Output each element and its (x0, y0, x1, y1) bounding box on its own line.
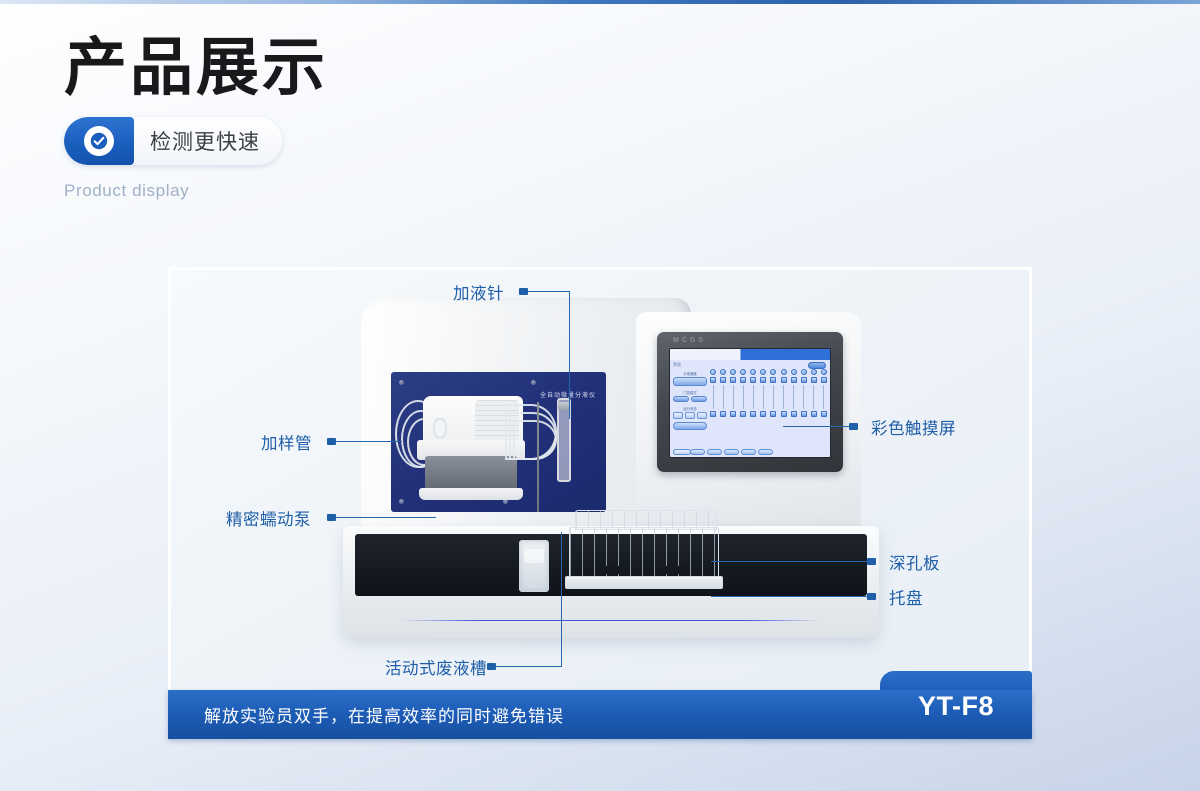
channel-base[interactable] (770, 411, 776, 417)
callout-line-waste-tank (496, 666, 562, 667)
channel-base[interactable] (791, 411, 797, 417)
callout-label-deep-well: 深孔板 (889, 550, 940, 574)
callout-line-pump (336, 517, 436, 518)
callout-label-waste-tank: 活动式废液槽 (385, 655, 487, 679)
product-image-panel: 全自动微量分液仪 (168, 267, 1032, 739)
screen-mode-toggle[interactable] (673, 396, 707, 402)
channel-line (710, 385, 716, 409)
channel-base[interactable] (781, 411, 787, 417)
channel-base[interactable] (730, 411, 736, 417)
callout-line-needle (528, 291, 570, 292)
plate-notch (665, 566, 682, 574)
pump-oval-detail (433, 418, 447, 438)
page-title: 产品展示 (64, 34, 584, 100)
channel-base[interactable] (821, 411, 827, 417)
page-subtitle: Product display (64, 181, 584, 201)
plate-notch (605, 566, 622, 574)
screen-status-cell (685, 412, 695, 419)
callout-line-touchscreen (783, 426, 851, 427)
channel-line (770, 385, 776, 409)
screen-footer-button[interactable] (724, 449, 739, 455)
callout-label-tray: 托盘 (889, 585, 923, 609)
channel-indicator[interactable] (730, 369, 736, 375)
channel-indicator[interactable] (750, 369, 756, 375)
channel-indicator[interactable] (760, 369, 766, 375)
channel-base[interactable] (720, 411, 726, 417)
check-circle-icon (84, 126, 114, 156)
waste-liquid-tank (519, 540, 549, 592)
screen-top-button[interactable] (808, 362, 826, 369)
screen-brand-label: MCGS (673, 337, 706, 344)
callout-label-sample-tube: 加样管 (261, 430, 312, 454)
channel-indicator[interactable] (740, 369, 746, 375)
channel-line (750, 385, 756, 409)
callout-marker-pump (327, 514, 336, 521)
outlet-tubing (513, 420, 557, 460)
callout-line-waste-tank (561, 532, 562, 667)
channel-base[interactable] (710, 411, 716, 417)
channel-valve[interactable] (811, 377, 817, 383)
screen-status-row (673, 412, 707, 419)
callout-line-needle (569, 291, 570, 419)
top-accent-rule (0, 0, 1200, 4)
screen-footer-button[interactable] (758, 449, 773, 455)
callout-line-deep-well (711, 561, 869, 562)
screen-footer-buttons (673, 449, 827, 455)
screen-speed-slider[interactable] (673, 377, 707, 386)
touchscreen-display[interactable]: 界面 分液速度 门控模式 运行状态 (669, 348, 831, 458)
channel-valve[interactable] (730, 377, 736, 383)
channel-line (801, 385, 807, 409)
screen-footer-button[interactable] (741, 449, 756, 455)
screen-footer-button[interactable] (707, 449, 722, 455)
callout-line-tray (711, 596, 869, 597)
plate-wells (569, 527, 719, 579)
deep-well-plate (565, 510, 723, 596)
callout-label-touchscreen: 彩色触摸屏 (871, 415, 956, 439)
channel-base[interactable] (801, 411, 807, 417)
screen-tube-row (710, 385, 827, 409)
channel-valve[interactable] (791, 377, 797, 383)
banner-slogan: 解放实验员双手，在提高效率的同时避免错误 (204, 690, 564, 739)
badge-icon-area (64, 117, 134, 165)
screen-mode-option[interactable] (691, 396, 707, 402)
screen-left-label: 门控模式 (673, 390, 707, 395)
channel-base[interactable] (740, 411, 746, 417)
channel-indicator[interactable] (770, 369, 776, 375)
product-photo: 全自动微量分液仪 (171, 270, 1029, 736)
channel-line (781, 385, 787, 409)
callout-marker-needle (519, 288, 528, 295)
instrument: 全自动微量分液仪 (361, 298, 861, 668)
screen-status-cell (673, 412, 683, 419)
channel-valve[interactable] (801, 377, 807, 383)
screen-left-label: 运行状态 (673, 406, 707, 411)
banner-model-number: YT-F8 (918, 678, 994, 734)
screen-indicator-row (710, 369, 827, 375)
screen-footer-button[interactable] (690, 449, 705, 455)
channel-indicator[interactable] (791, 369, 797, 375)
screen-mode-option[interactable] (673, 396, 689, 402)
channel-line (720, 385, 726, 409)
screen-valve-row (710, 377, 827, 383)
channel-base[interactable] (760, 411, 766, 417)
screen-left-controls: 分液速度 门控模式 运行状态 (673, 371, 707, 433)
channel-indicator[interactable] (710, 369, 716, 375)
channel-line (730, 385, 736, 409)
channel-line (740, 385, 746, 409)
panel-screw (399, 380, 404, 385)
callout-label-pump: 精密蠕动泵 (226, 506, 311, 530)
callout-line-sample-tube (336, 441, 402, 442)
panel-screw (531, 380, 536, 385)
channel-valve[interactable] (740, 377, 746, 383)
channel-valve[interactable] (710, 377, 716, 383)
channel-line (760, 385, 766, 409)
pump-foot (419, 488, 523, 500)
screen-status-cell (697, 412, 707, 419)
instrument-base (343, 526, 879, 638)
callout-marker-waste-tank (487, 663, 496, 670)
channel-indicator[interactable] (720, 369, 726, 375)
callout-label-needle: 加液针 (453, 280, 504, 304)
channel-indicator[interactable] (821, 369, 827, 375)
panel-screw (399, 499, 404, 504)
screen-tag: 界面 (673, 362, 681, 368)
channel-indicator[interactable] (811, 369, 817, 375)
base-accent-line (401, 620, 821, 622)
channel-line (811, 385, 817, 409)
screen-action-bar[interactable] (673, 422, 707, 430)
channel-line (791, 385, 797, 409)
channel-valve[interactable] (821, 377, 827, 383)
screen-left-label: 分液速度 (673, 371, 707, 376)
channel-valve[interactable] (770, 377, 776, 383)
peristaltic-pump (409, 396, 539, 496)
product-banner: 解放实验员双手，在提高效率的同时避免错误 YT-F8 (168, 690, 1032, 739)
feature-badge: 检测更快速 (64, 117, 282, 165)
channel-valve[interactable] (781, 377, 787, 383)
channel-valve[interactable] (750, 377, 756, 383)
channel-valve[interactable] (720, 377, 726, 383)
channel-valve[interactable] (760, 377, 766, 383)
screen-title-bar (670, 349, 830, 360)
badge-label: 检测更快速 (134, 117, 282, 165)
channel-indicator[interactable] (781, 369, 787, 375)
screen-channel-grid (710, 369, 827, 419)
screen-base-row (710, 411, 827, 417)
channel-indicator[interactable] (801, 369, 807, 375)
channel-base[interactable] (811, 411, 817, 417)
page-header: 产品展示 检测更快速 Product display (64, 34, 584, 201)
touchscreen-bezel: MCGS 界面 分液速度 门控模式 运行状态 (657, 332, 843, 472)
plate-skirt (565, 576, 723, 589)
dispensing-needle (537, 402, 539, 512)
channel-base[interactable] (750, 411, 756, 417)
channel-line (821, 385, 827, 409)
screen-footer-status (673, 449, 691, 455)
callout-marker-sample-tube (327, 438, 336, 445)
